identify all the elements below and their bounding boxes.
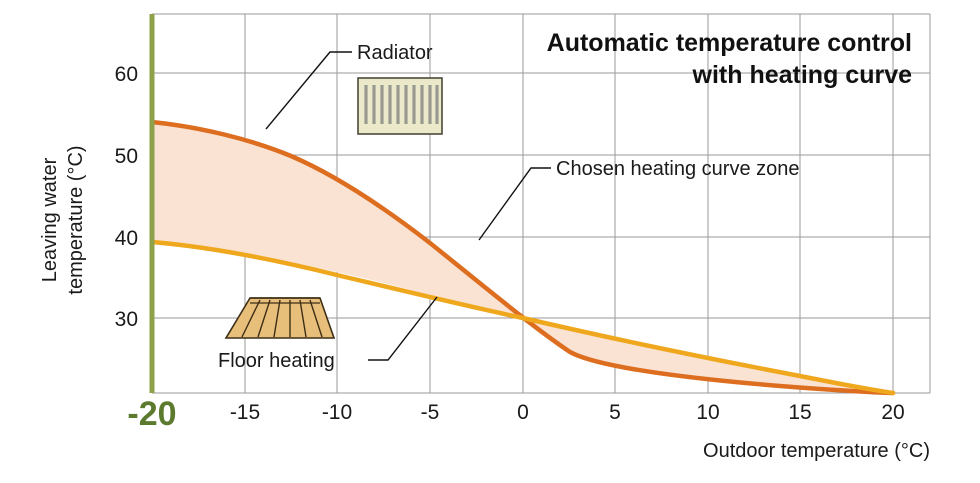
y-axis-title-line1: Leaving water bbox=[39, 157, 61, 282]
x-tick-label-10: 10 bbox=[696, 401, 719, 424]
y-tick-label-60: 60 bbox=[115, 63, 138, 86]
zone-label: Chosen heating curve zone bbox=[556, 158, 800, 180]
chart-title-line2: with heating curve bbox=[692, 61, 913, 89]
x-tick-label-20: 20 bbox=[881, 401, 904, 424]
floor-heating-annotation: Floor heating bbox=[218, 297, 437, 372]
floor-heating-icon bbox=[226, 298, 334, 338]
zone-leader-line bbox=[479, 168, 551, 240]
y-tick-label-40: 40 bbox=[115, 227, 138, 250]
y-axis-title: Leaving water temperature (°C) bbox=[39, 145, 87, 294]
chart-title-line1: Automatic temperature control bbox=[547, 29, 912, 57]
radiator-icon bbox=[358, 78, 442, 134]
y-tick-label-30: 30 bbox=[115, 308, 138, 331]
x-tick-label-5: 5 bbox=[609, 401, 621, 424]
chart-canvas: 60 50 40 30 -20 -15 -10 -5 0 5 10 15 20 … bbox=[0, 0, 980, 483]
x-tick-label-15: 15 bbox=[788, 401, 811, 424]
heating-curve-chart: 60 50 40 30 -20 -15 -10 -5 0 5 10 15 20 … bbox=[0, 0, 980, 483]
radiator-label: Radiator bbox=[357, 42, 433, 64]
x-tick-label-minus15: -15 bbox=[230, 401, 260, 424]
x-tick-label-0: 0 bbox=[517, 401, 529, 424]
zone-annotation: Chosen heating curve zone bbox=[479, 158, 800, 240]
floor-heating-leader-line bbox=[368, 297, 437, 360]
x-tick-label-minus10: -10 bbox=[322, 401, 352, 424]
radiator-annotation: Radiator bbox=[266, 42, 442, 134]
radiator-leader-line bbox=[266, 52, 352, 129]
x-tick-label-minus20: -20 bbox=[127, 395, 176, 433]
y-tick-label-50: 50 bbox=[115, 145, 138, 168]
y-axis-title-line2: temperature (°C) bbox=[65, 145, 87, 294]
x-axis-title: Outdoor temperature (°C) bbox=[703, 440, 930, 462]
x-tick-label-minus5: -5 bbox=[421, 401, 440, 424]
floor-heating-label: Floor heating bbox=[218, 350, 335, 372]
